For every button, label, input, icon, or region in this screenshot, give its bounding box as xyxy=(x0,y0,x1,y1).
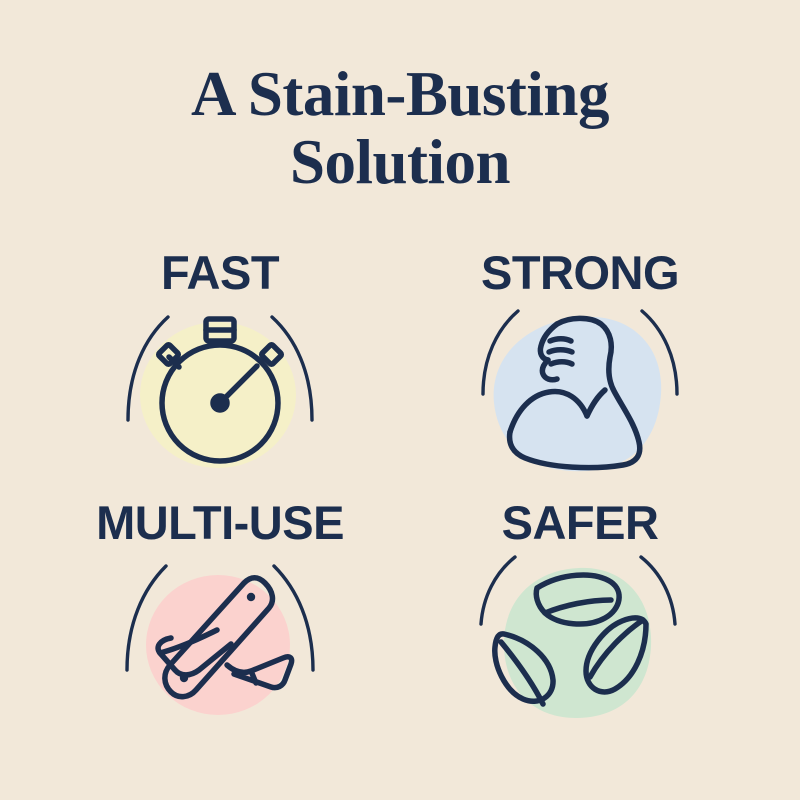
feature-safer: SAFER xyxy=(410,498,750,737)
feature-label-fast: FAST xyxy=(161,248,279,298)
feature-grid: FAST xyxy=(40,248,760,748)
feature-art-multi-use xyxy=(105,552,335,737)
pink-blob xyxy=(146,575,290,715)
feature-strong: STRONG xyxy=(410,248,750,487)
feature-art-safer xyxy=(465,552,695,737)
feature-fast: FAST xyxy=(50,248,390,487)
feature-multi-use: MULTI-USE xyxy=(50,498,390,737)
feature-art-fast xyxy=(105,302,335,487)
title-line-1: A Stain-Busting xyxy=(0,60,800,128)
blue-blob xyxy=(494,317,662,471)
title-line-2: Solution xyxy=(0,128,800,196)
feature-label-strong: STRONG xyxy=(481,248,679,298)
feature-label-multi-use: MULTI-USE xyxy=(96,498,344,548)
page-title: A Stain-Busting Solution xyxy=(0,60,800,196)
feature-label-safer: SAFER xyxy=(502,498,659,548)
feature-art-strong xyxy=(465,302,695,487)
poster-canvas: A Stain-Busting Solution FAST xyxy=(0,0,800,800)
